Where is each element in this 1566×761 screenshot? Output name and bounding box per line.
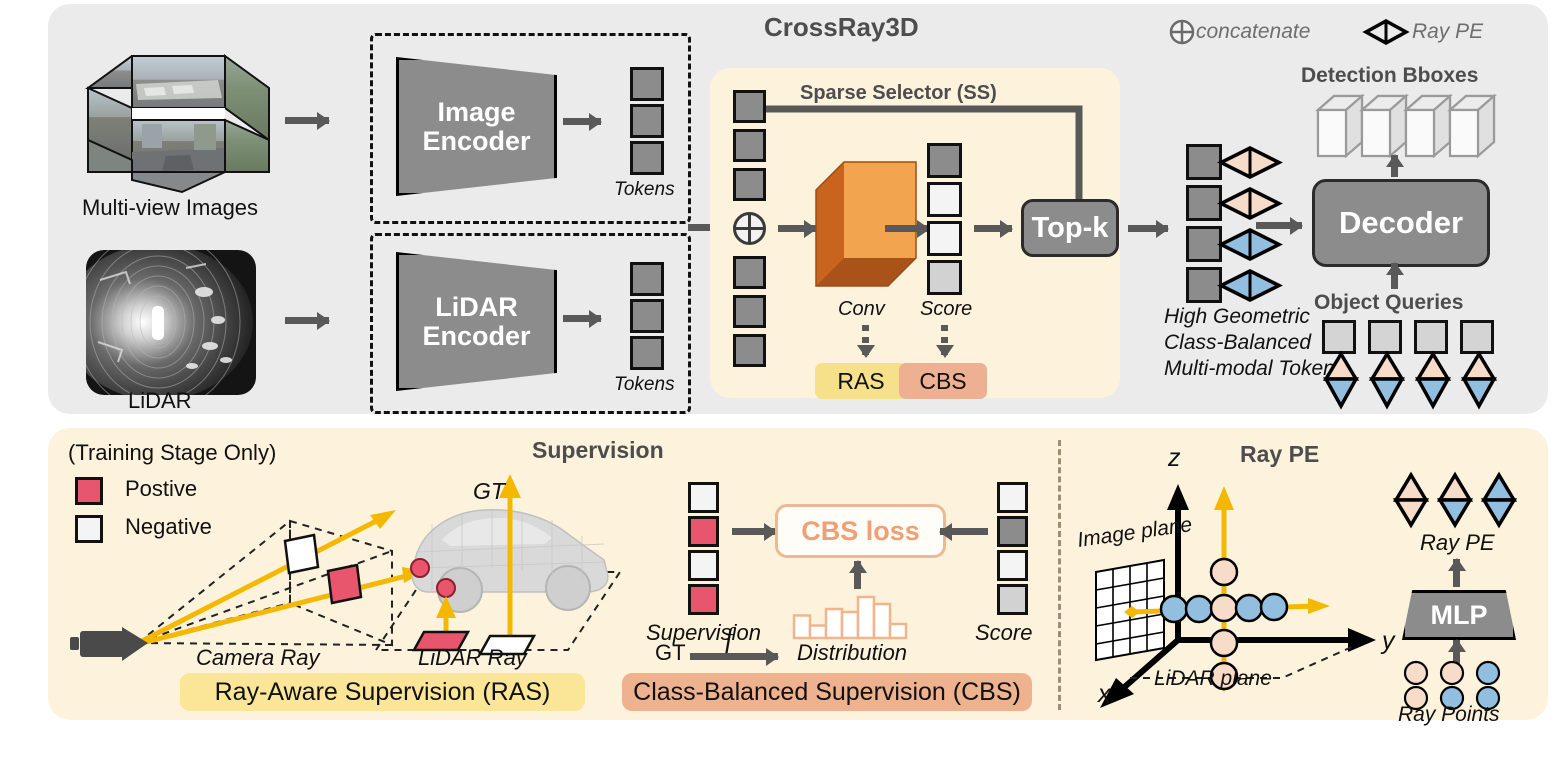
cbs-loss-block: CBS loss — [775, 504, 946, 558]
distribution-histogram — [792, 588, 917, 638]
score-box — [927, 143, 962, 178]
sparse-selector-title: Sparse Selector (SS) — [800, 82, 997, 105]
arrow-topk-to-tokens — [1128, 225, 1168, 232]
function-label: f — [725, 623, 733, 655]
arrow-decoder-to-bboxes — [1391, 155, 1398, 177]
lidar-caption: LiDAR — [128, 388, 192, 414]
score-box — [927, 260, 962, 295]
image-token — [630, 67, 664, 101]
lidar-ray-label: LiDAR Ray — [418, 645, 527, 671]
arrow-distribution-to-loss — [854, 561, 861, 589]
image-tokens-label: Tokens — [614, 179, 675, 201]
axis-y-label: y — [1382, 627, 1395, 656]
detection-bboxes — [1316, 92, 1501, 157]
lidar-token — [630, 299, 664, 333]
ss-input-token — [733, 129, 766, 162]
cbs-score-box — [997, 482, 1028, 513]
multi-view-images-thumbnail — [86, 40, 271, 205]
object-query — [1414, 320, 1448, 354]
arrow-lidar-encoder-to-tokens — [563, 315, 601, 322]
panel-divider — [1058, 440, 1061, 710]
object-query — [1322, 320, 1356, 354]
arrow-conv-to-score — [885, 225, 929, 232]
supervision-box — [688, 516, 719, 547]
cbs-chip: CBS — [899, 363, 987, 399]
gt-label-cbs: GT — [655, 640, 686, 666]
image-encoder-label-line1: Image — [422, 98, 530, 126]
output-token — [1186, 226, 1222, 262]
supervision-box — [688, 482, 719, 513]
score-box — [927, 221, 962, 256]
lidar-encoder: LiDAR Encoder — [396, 252, 557, 391]
output-token — [1186, 185, 1222, 221]
dotted-arrow-conv-to-ras — [862, 325, 869, 357]
legend-ray-pe-label: Ray PE — [1412, 20, 1483, 44]
image-encoder-label-line2: Encoder — [422, 127, 530, 155]
lidar-encoder-label-line2: Encoder — [422, 322, 530, 350]
arrow-lidar-to-encoder — [285, 317, 329, 324]
arrow-queries-to-decoder — [1391, 263, 1398, 289]
lidar-tokens-label: Tokens — [614, 374, 675, 396]
topk-block[interactable]: Top-k — [1021, 199, 1119, 257]
ss-input-token — [733, 168, 766, 201]
topk-label: Top-k — [1032, 212, 1109, 245]
ray-pe-diamond-icon — [1219, 268, 1282, 303]
arrow-gt-to-distribution — [690, 653, 778, 660]
image-token — [630, 104, 664, 138]
arrow-score-to-loss — [940, 528, 988, 535]
conv-label: Conv — [838, 298, 885, 321]
arrow-images-to-encoder — [285, 117, 329, 124]
decoder-block[interactable]: Decoder — [1312, 179, 1490, 267]
object-query — [1460, 320, 1494, 354]
supervision-box — [688, 550, 719, 581]
cbs-chip-label: CBS — [919, 368, 966, 395]
ss-input-token — [733, 256, 766, 289]
mlp-block: MLP — [1402, 590, 1516, 640]
ss-input-token — [733, 90, 766, 123]
output-tokens-caption-line1: High Geometric — [1164, 305, 1310, 329]
output-token — [1186, 144, 1222, 180]
lidar-plane-label: LiDAR plane — [1154, 667, 1272, 691]
ray-pe-diamond-icon — [1219, 227, 1282, 262]
legend-concatenate-label: concatenate — [1196, 20, 1310, 44]
arrow-score-to-topk — [974, 225, 1012, 232]
object-query — [1368, 320, 1402, 354]
ss-input-token — [733, 295, 766, 328]
multi-view-images-caption: Multi-view Images — [82, 195, 258, 221]
score-box — [927, 182, 962, 217]
cbs-score-label: Score — [975, 620, 1032, 646]
supervision-box — [688, 584, 719, 615]
score-label: Score — [920, 298, 972, 321]
page-title: CrossRay3D — [764, 12, 919, 43]
arrow-supervision-to-loss — [732, 528, 776, 535]
ss-input-token — [733, 334, 766, 367]
arrow-mlp-to-ray-pe — [1453, 559, 1460, 587]
cbs-banner-label: Class-Balanced Supervision (CBS) — [633, 678, 1021, 707]
output-tokens-caption-line2: Class-Balanced — [1164, 331, 1311, 355]
detection-bboxes-label: Detection Bboxes — [1301, 64, 1478, 88]
arrow-concat-to-conv — [778, 225, 816, 232]
axis-z-label: z — [1168, 444, 1181, 473]
image-encoder: Image Encoder — [396, 57, 557, 196]
arrow-tokens-to-decoder — [1256, 222, 1302, 229]
cbs-score-box — [997, 584, 1028, 615]
distribution-label: Distribution — [797, 640, 907, 666]
object-queries-label: Object Queries — [1314, 291, 1463, 315]
lidar-token — [630, 262, 664, 296]
dotted-arrow-score-to-cbs — [941, 325, 948, 357]
ras-chip-label: RAS — [837, 368, 884, 395]
lidar-encoder-label-line1: LiDAR — [422, 293, 530, 321]
ray-pe-output-label: Ray PE — [1420, 530, 1495, 556]
axis-x-label: x — [1098, 680, 1111, 709]
object-query-ray-pe-icons — [1314, 352, 1514, 410]
gt-label-ras: GT — [473, 478, 505, 505]
ras-banner-label: Ray-Aware Supervision (RAS) — [215, 678, 551, 707]
ras-banner: Ray-Aware Supervision (RAS) — [180, 673, 585, 711]
ray-pe-diamond-icon — [1219, 186, 1282, 221]
concatenate-icon — [731, 210, 768, 247]
concatenate-icon — [1168, 18, 1196, 46]
decoder-label: Decoder — [1339, 205, 1463, 241]
ray-points-label: Ray Points — [1398, 703, 1500, 727]
mlp-label: MLP — [1431, 600, 1488, 631]
camera-ray-label: Camera Ray — [196, 645, 319, 671]
arrow-image-encoder-to-tokens — [563, 118, 601, 125]
cbs-banner: Class-Balanced Supervision (CBS) — [622, 673, 1032, 711]
ray-pe-diamond-icon — [1363, 18, 1409, 46]
ras-chip: RAS — [815, 363, 907, 399]
cbs-loss-label: CBS loss — [801, 516, 920, 547]
cbs-score-box — [997, 516, 1028, 547]
output-token — [1186, 267, 1222, 303]
lidar-token — [630, 336, 664, 370]
lidar-thumbnail — [86, 250, 256, 395]
ray-pe-output-icons — [1388, 473, 1538, 528]
ray-points-icons — [1400, 661, 1510, 709]
cbs-score-box — [997, 550, 1028, 581]
image-token — [630, 141, 664, 175]
ray-pe-diamond-icon — [1219, 145, 1282, 180]
